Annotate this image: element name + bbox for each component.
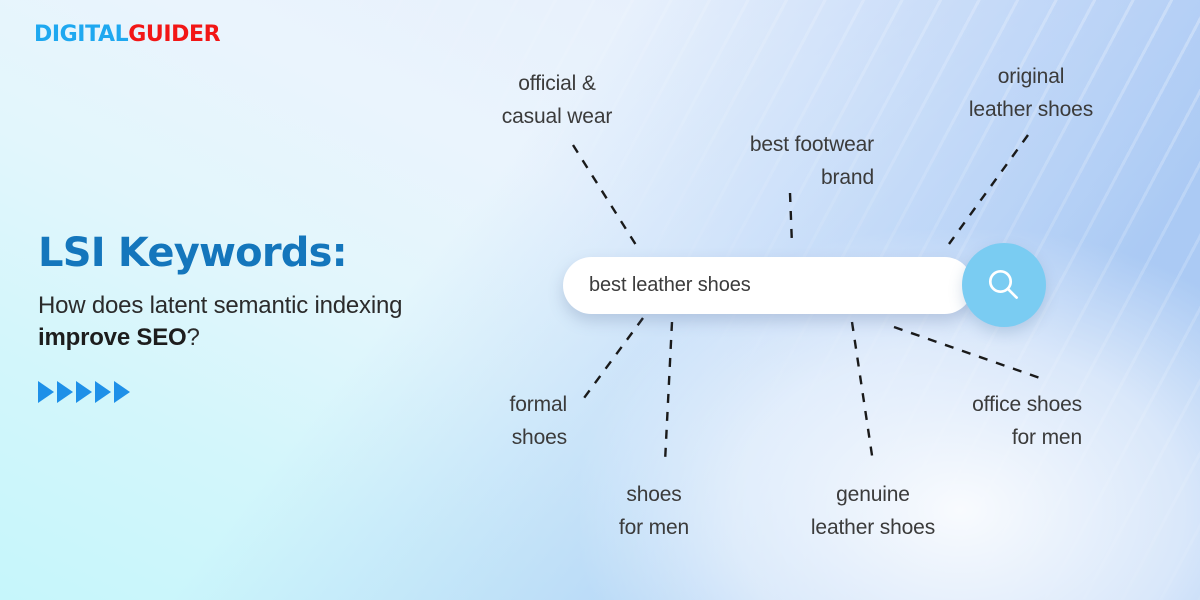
- keyword-label-office[interactable]: office shoes for men: [892, 389, 1082, 454]
- connector-original: [949, 135, 1028, 244]
- connector-genuine: [852, 322, 873, 462]
- arrow-decoration-row: [38, 381, 438, 403]
- subtitle-emphasis: improve SEO: [38, 324, 187, 351]
- connector-shoesmen: [665, 322, 672, 462]
- connector-formal: [584, 318, 643, 398]
- play-triangle-icon: [38, 381, 54, 403]
- keyword-label-shoes-for-men[interactable]: shoes for men: [562, 479, 746, 544]
- brand-logo-guider: GUIDER: [128, 22, 220, 47]
- search-bar-group: best leather shoes: [563, 257, 973, 314]
- play-triangle-icon: [76, 381, 92, 403]
- play-triangle-icon: [57, 381, 73, 403]
- page-subtitle: How does latent semantic indexing improv…: [38, 290, 438, 352]
- play-triangle-icon: [95, 381, 111, 403]
- keyword-label-genuine[interactable]: genuine leather shoes: [760, 479, 986, 544]
- search-button[interactable]: [962, 243, 1046, 327]
- brand-logo-digital: DIGITAL: [34, 22, 128, 47]
- connector-official: [573, 145, 636, 245]
- subtitle-lead: How does latent semantic indexing: [38, 292, 402, 319]
- keyword-label-formal[interactable]: formal shoes: [410, 389, 567, 454]
- brand-logo: DIGITALGUIDER: [34, 22, 220, 47]
- connector-footwear: [790, 193, 792, 245]
- infographic-canvas: DIGITALGUIDER LSI Keywords: How does lat…: [0, 0, 1200, 600]
- search-input[interactable]: best leather shoes: [589, 257, 903, 314]
- connector-office: [894, 327, 1040, 378]
- left-copy-block: LSI Keywords: How does latent semantic i…: [38, 232, 438, 403]
- search-icon: [984, 265, 1024, 305]
- subtitle-tail: ?: [187, 324, 200, 351]
- keyword-label-original[interactable]: original leather shoes: [930, 61, 1132, 126]
- keyword-label-official[interactable]: official & casual wear: [468, 68, 646, 133]
- keyword-label-footwear[interactable]: best footwear brand: [640, 129, 874, 194]
- play-triangle-icon: [114, 381, 130, 403]
- page-title: LSI Keywords:: [38, 232, 438, 274]
